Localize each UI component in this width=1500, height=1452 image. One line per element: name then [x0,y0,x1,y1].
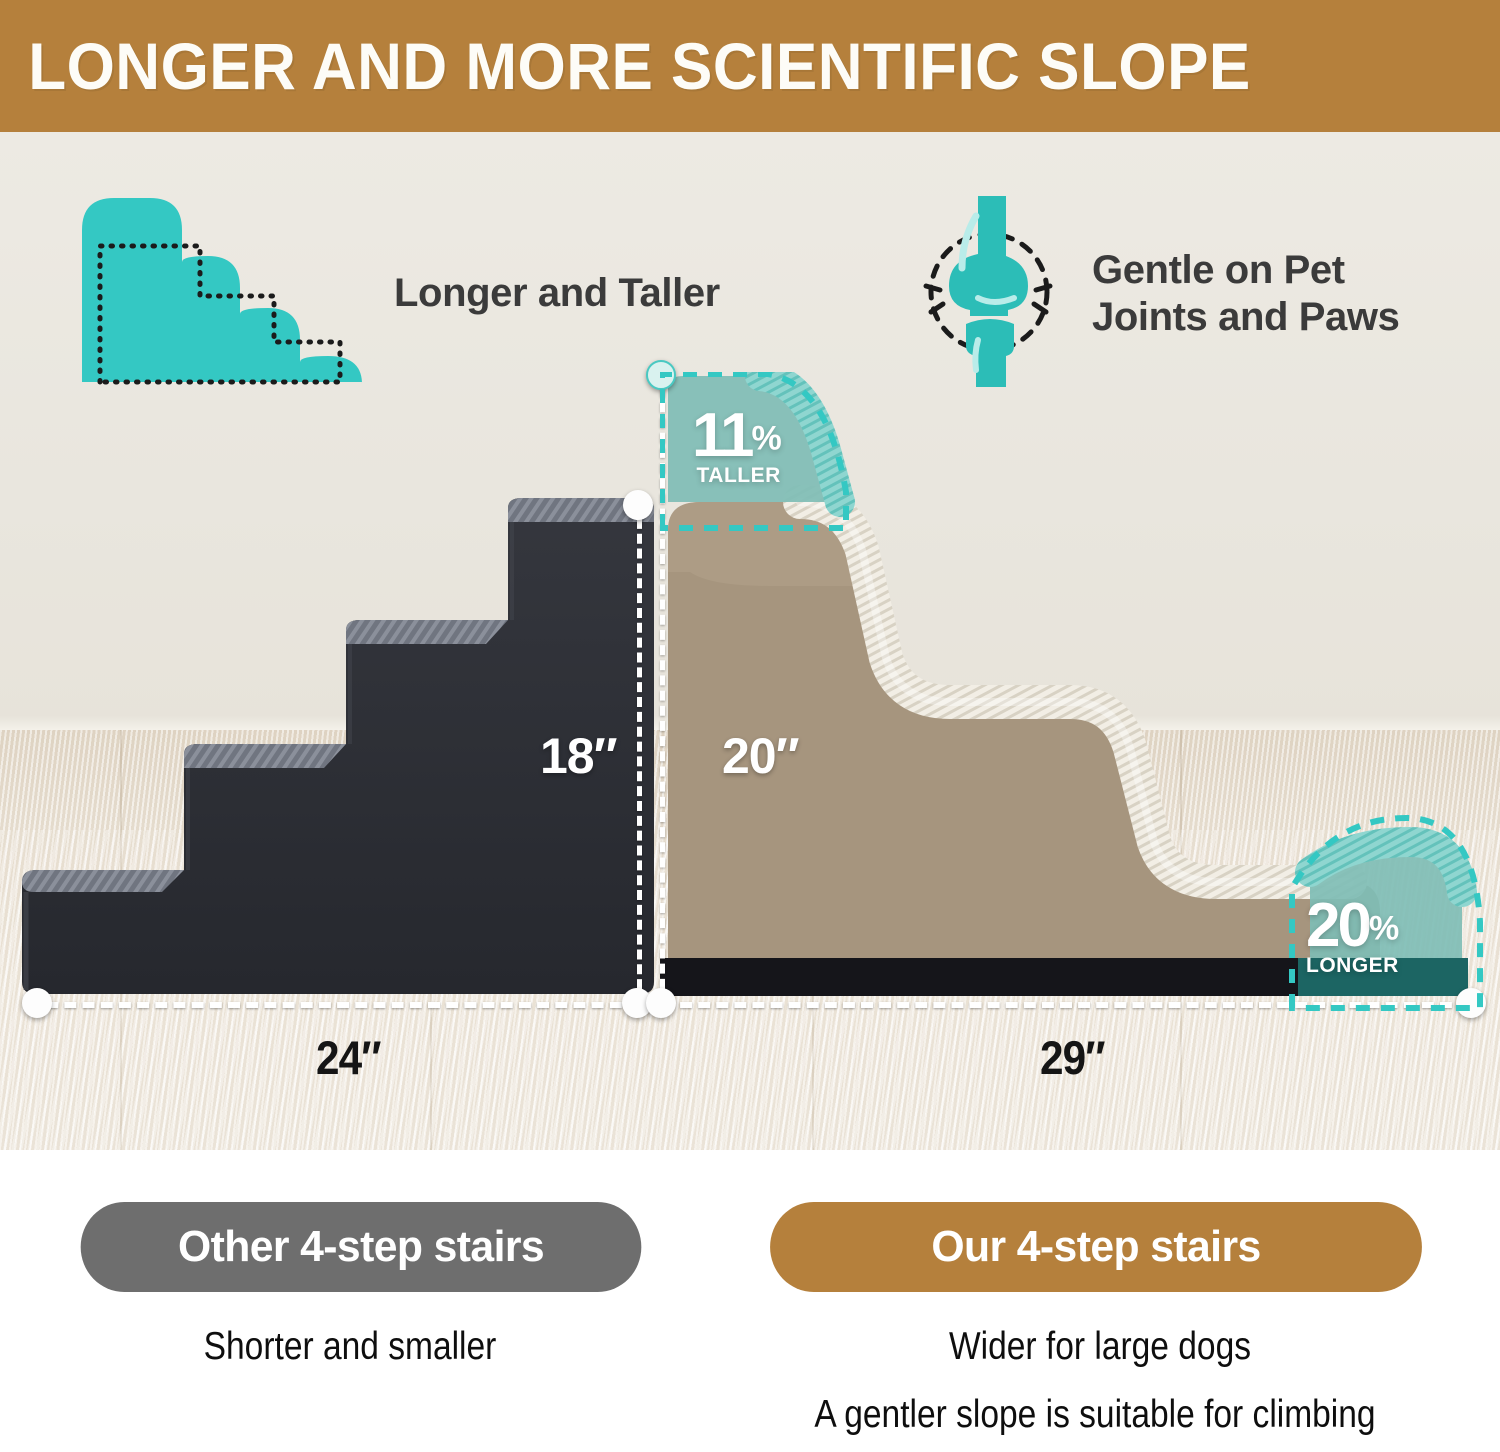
height-label-other: 18″ [540,727,617,785]
measure-dot-other-top [623,490,653,520]
measure-dot-ours-left [646,988,676,1018]
longer-badge-text: 20% LONGER [1306,900,1399,975]
page-title: LONGER AND MORE SCIENTIFIC SLOPE [0,28,1251,104]
our-product-caption-line2: A gentler slope is suitable for climbing [747,1393,1444,1437]
width-label-ours: 29″ [1040,1030,1105,1085]
comparison-labels-panel: Other 4-step stairs Our 4-step stairs Sh… [0,1150,1500,1452]
pet-joint-icon [916,194,1066,394]
height-label-ours: 20″ [722,727,799,785]
feature-joints-line2: Joints and Paws [1092,295,1399,339]
feature-gentle-on-joints: Gentle on Pet Joints and Paws [916,194,1399,394]
longer-badge-sign: % [1369,910,1398,948]
other-product-caption: Shorter and smaller [49,1325,651,1369]
taller-badge-sign: % [752,420,781,458]
measure-line-24in [28,1002,640,1008]
feature-joints-line1: Gentle on Pet [1092,248,1345,292]
measure-line-18in [637,504,642,1004]
our-product-pill: Our 4-step stairs [770,1202,1422,1292]
longer-badge-number: 20 [1306,891,1369,960]
product-comparison-scene: Longer and Taller Gen [0,132,1500,1150]
taller-badge-sublabel: TALLER [692,467,781,485]
header-bar: LONGER AND MORE SCIENTIFIC SLOPE [0,0,1500,132]
width-label-other: 24″ [316,1030,381,1085]
feature-longer-and-taller: Longer and Taller [78,194,720,394]
our-product-caption-line1: Wider for large dogs [756,1325,1444,1369]
taller-badge-text: 11% TALLER [692,410,781,485]
measure-dot-left [22,988,52,1018]
stepped-ramp-icon [78,194,368,394]
longer-badge-sublabel: LONGER [1306,957,1399,975]
feature-longer-label: Longer and Taller [394,270,720,317]
feature-joints-label: Gentle on Pet Joints and Paws [1092,247,1399,341]
other-product-pill: Other 4-step stairs [81,1202,642,1292]
taller-badge-number: 11 [692,401,752,470]
